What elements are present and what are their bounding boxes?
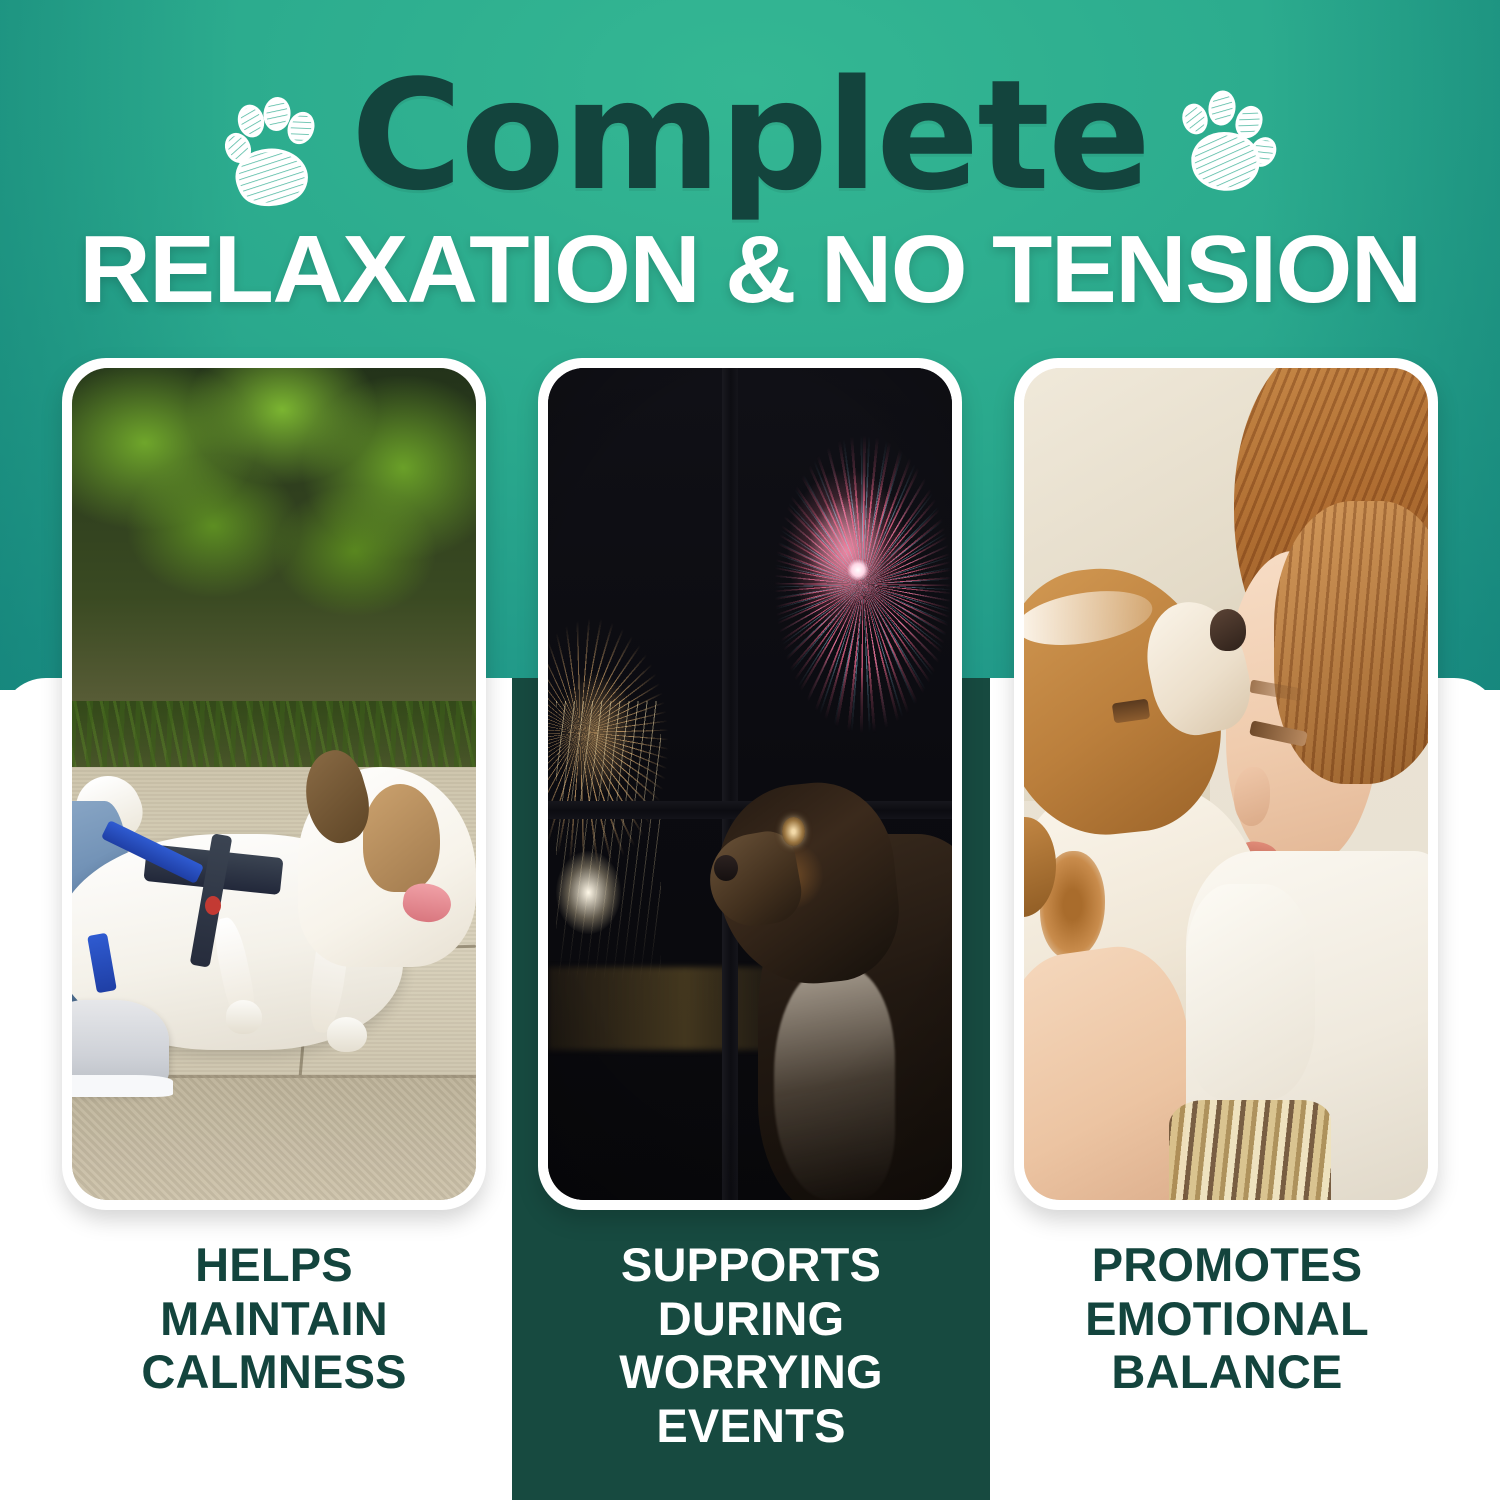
benefit-caption-worrying-events: SUPPORTS DURING WORRYING EVENTS xyxy=(536,1238,966,1452)
photo-dog-nose xyxy=(1210,609,1246,651)
photo-child-nose xyxy=(1234,767,1270,825)
caption-line: EMOTIONAL xyxy=(1012,1292,1442,1346)
benefit-card-calmness xyxy=(62,358,486,1210)
benefit-caption-calmness: HELPS MAINTAIN CALMNESS xyxy=(59,1238,489,1399)
photo-vignette xyxy=(548,368,952,1200)
caption-line: HELPS xyxy=(59,1238,489,1292)
caption-line: BALANCE xyxy=(1012,1345,1442,1399)
photo-child-sleeping-with-dog xyxy=(1024,368,1428,1200)
photo-dog-hind-paw xyxy=(327,1017,367,1052)
caption-line: PROMOTES xyxy=(1012,1238,1442,1292)
benefit-caption-emotional-balance: PROMOTES EMOTIONAL BALANCE xyxy=(1012,1238,1442,1399)
caption-line: WORRYING xyxy=(536,1345,966,1399)
caption-line: CALMNESS xyxy=(59,1345,489,1399)
benefit-card-emotional-balance xyxy=(1014,358,1438,1210)
photo-dog-on-leash xyxy=(72,368,476,1200)
caption-line: SUPPORTS xyxy=(536,1238,966,1292)
photo-dog-watching-fireworks xyxy=(548,368,952,1200)
photo-child-sleeve xyxy=(1186,884,1315,1100)
infographic-root: Complete RELAXATION & NO TENSION xyxy=(0,0,1500,1500)
caption-line: MAINTAIN xyxy=(59,1292,489,1346)
photo-striped-bedding xyxy=(1169,1100,1331,1200)
benefit-card-worrying-events xyxy=(538,358,962,1210)
caption-line: EVENTS xyxy=(536,1399,966,1453)
caption-line: DURING xyxy=(536,1292,966,1346)
photo-person-shoe-sole xyxy=(72,1075,173,1097)
photo-dog-front-paw xyxy=(226,1000,262,1033)
photo-dog-face-patch xyxy=(363,784,440,892)
